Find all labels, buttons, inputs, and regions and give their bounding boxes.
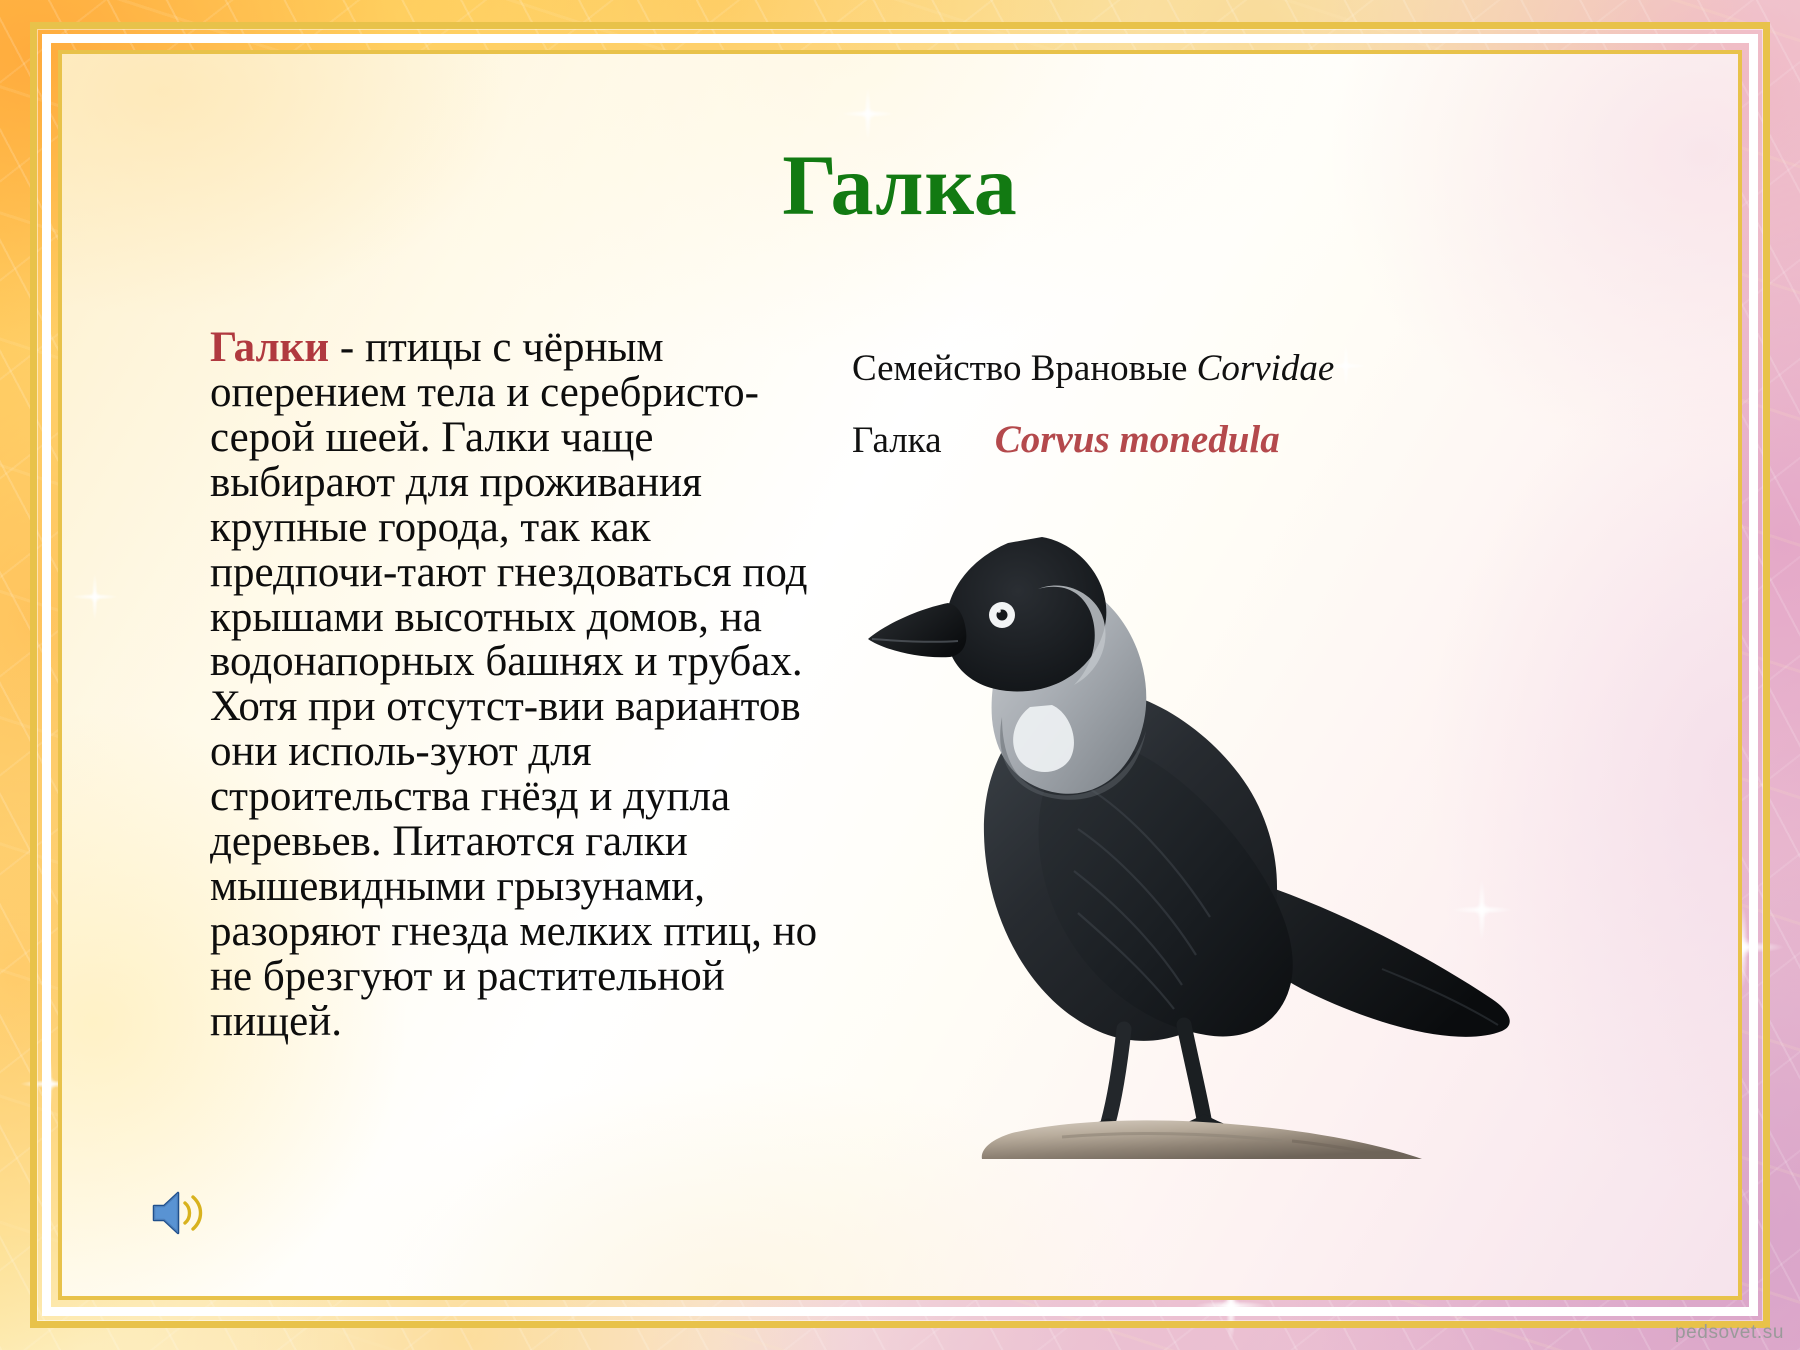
watermark-text: pedsovet.su [1675, 1322, 1784, 1344]
speaker-icon[interactable] [150, 1186, 208, 1240]
jackdaw-photo [862, 469, 1562, 1159]
family-label: Семейство Врановые [852, 348, 1187, 389]
taxonomy-block: Семейство Врановые Corvidae Галка Corvus… [852, 346, 1552, 465]
sparkle-decoration [842, 88, 894, 140]
species-label: Галка [852, 420, 942, 461]
page-title: Галка [120, 142, 1680, 228]
taxonomy-family-row: Семейство Врановые Corvidae [852, 346, 1552, 392]
species-latin-name: Corvus monedula [995, 418, 1280, 461]
slide-canvas: Галка Галки - птицы с чёрным оперением т… [0, 0, 1800, 1350]
description-paragraph: Галки - птицы с чёрным оперением тела и … [210, 326, 840, 1045]
family-latin-name: Corvidae [1197, 348, 1335, 389]
description-text-block: Галки - птицы с чёрным оперением тела и … [210, 326, 840, 1045]
lead-word: Галки [210, 324, 329, 371]
description-body: - птицы с чёрным оперением тела и серебр… [210, 324, 817, 1045]
sparkle-decoration [72, 574, 118, 620]
slide-content-panel: Галка Галки - птицы с чёрным оперением т… [58, 50, 1742, 1300]
taxonomy-species-row: Галка Corvus monedula [852, 416, 1552, 465]
